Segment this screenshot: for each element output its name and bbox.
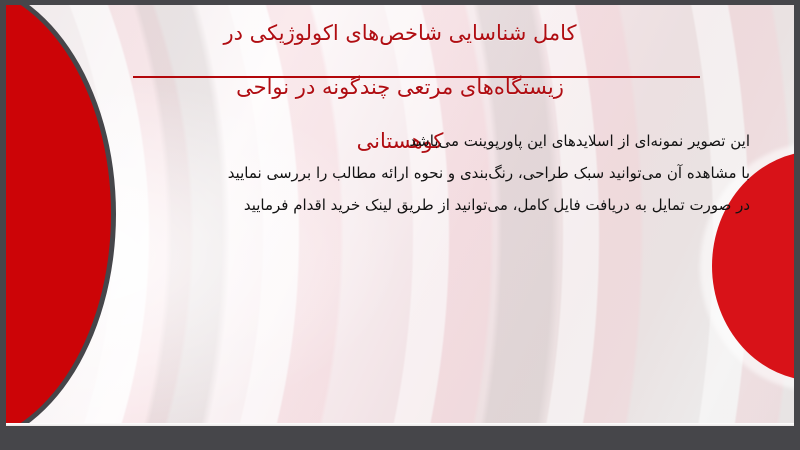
- slide-canvas: کامل شناسایی شاخص‌های اکولوژیکی در زیستگ…: [6, 5, 794, 426]
- frame-bottom: [0, 426, 800, 450]
- frame-right: [794, 0, 800, 450]
- title-line-2: زیستگاه‌های مرتعی چندگونه در نواحی: [6, 74, 794, 101]
- frame-top: [0, 0, 800, 5]
- frame-left: [0, 0, 6, 450]
- presentation-slide: کامل شناسایی شاخص‌های اکولوژیکی در زیستگ…: [0, 0, 800, 450]
- title-divider-rule: [133, 76, 700, 78]
- slide-body-text: این تصویر نمونه‌ای از اسلایدهای این پاور…: [50, 125, 750, 221]
- body-line-1: این تصویر نمونه‌ای از اسلایدهای این پاور…: [50, 125, 750, 157]
- title-line-1: کامل شناسایی شاخص‌های اکولوژیکی در: [6, 20, 794, 47]
- body-line-2: با مشاهده آن می‌توانید سبک طراحی، رنگ‌بن…: [50, 157, 750, 189]
- body-line-3: در صورت تمایل به دریافت فایل کامل، می‌تو…: [50, 189, 750, 221]
